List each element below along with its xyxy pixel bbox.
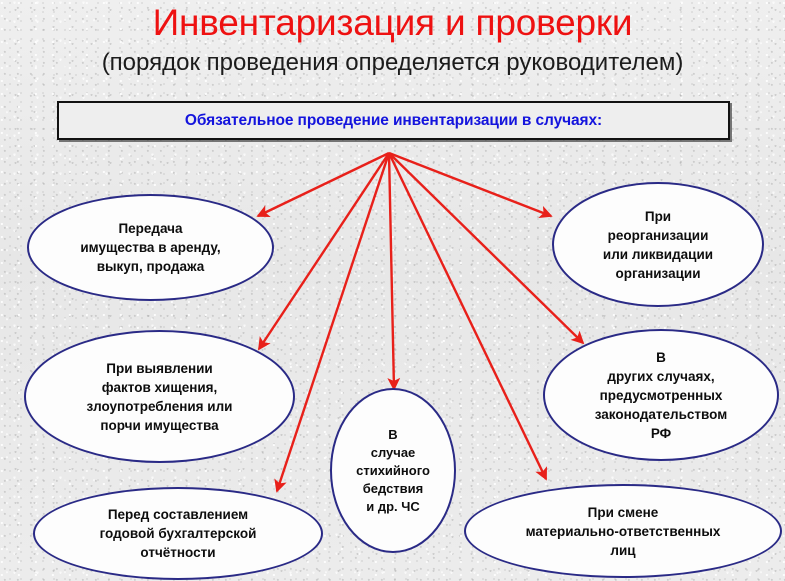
node-label: Передача имущества в аренду, выкуп, прод… — [74, 219, 226, 276]
arrow-to-reorganization-liquidation — [389, 153, 551, 216]
node-label: В других случаях, предусмотренных законо… — [589, 348, 733, 443]
node-label: Перед составлением годовой бухгалтерской… — [94, 505, 263, 562]
arrow-to-theft-abuse-damage — [259, 153, 389, 349]
slide-canvas: Инвентаризация и проверки (порядок прове… — [0, 0, 785, 581]
node-annual-accounting[interactable]: Перед составлением годовой бухгалтерской… — [33, 487, 323, 580]
banner-label: Обязательное проведение инвентаризации в… — [59, 103, 728, 138]
banner-box: Обязательное проведение инвентаризации в… — [57, 101, 730, 140]
page-subtitle: (порядок проведения определяется руковод… — [0, 48, 785, 78]
node-label: При выявлении фактов хищения, злоупотреб… — [81, 359, 239, 435]
node-label: В случае стихийного бедствия и др. ЧС — [350, 426, 436, 516]
node-reorganization-liquidation[interactable]: При реорганизации или ликвидации организ… — [552, 182, 764, 307]
node-theft-abuse-damage[interactable]: При выявлении фактов хищения, злоупотреб… — [24, 330, 295, 463]
node-natural-disaster[interactable]: В случае стихийного бедствия и др. ЧС — [330, 388, 456, 553]
arrow-to-natural-disaster — [389, 153, 394, 389]
node-transfer-of-property[interactable]: Передача имущества в аренду, выкуп, прод… — [27, 194, 274, 301]
node-change-of-responsible-persons[interactable]: При смене материально-ответственных лиц — [464, 484, 782, 578]
node-label: При реорганизации или ликвидации организ… — [597, 207, 719, 283]
node-label: При смене материально-ответственных лиц — [520, 503, 727, 560]
page-title: Инвентаризация и проверки — [0, 1, 785, 45]
arrow-to-transfer-of-property — [258, 153, 389, 216]
node-other-cases-law[interactable]: В других случаях, предусмотренных законо… — [543, 329, 779, 461]
